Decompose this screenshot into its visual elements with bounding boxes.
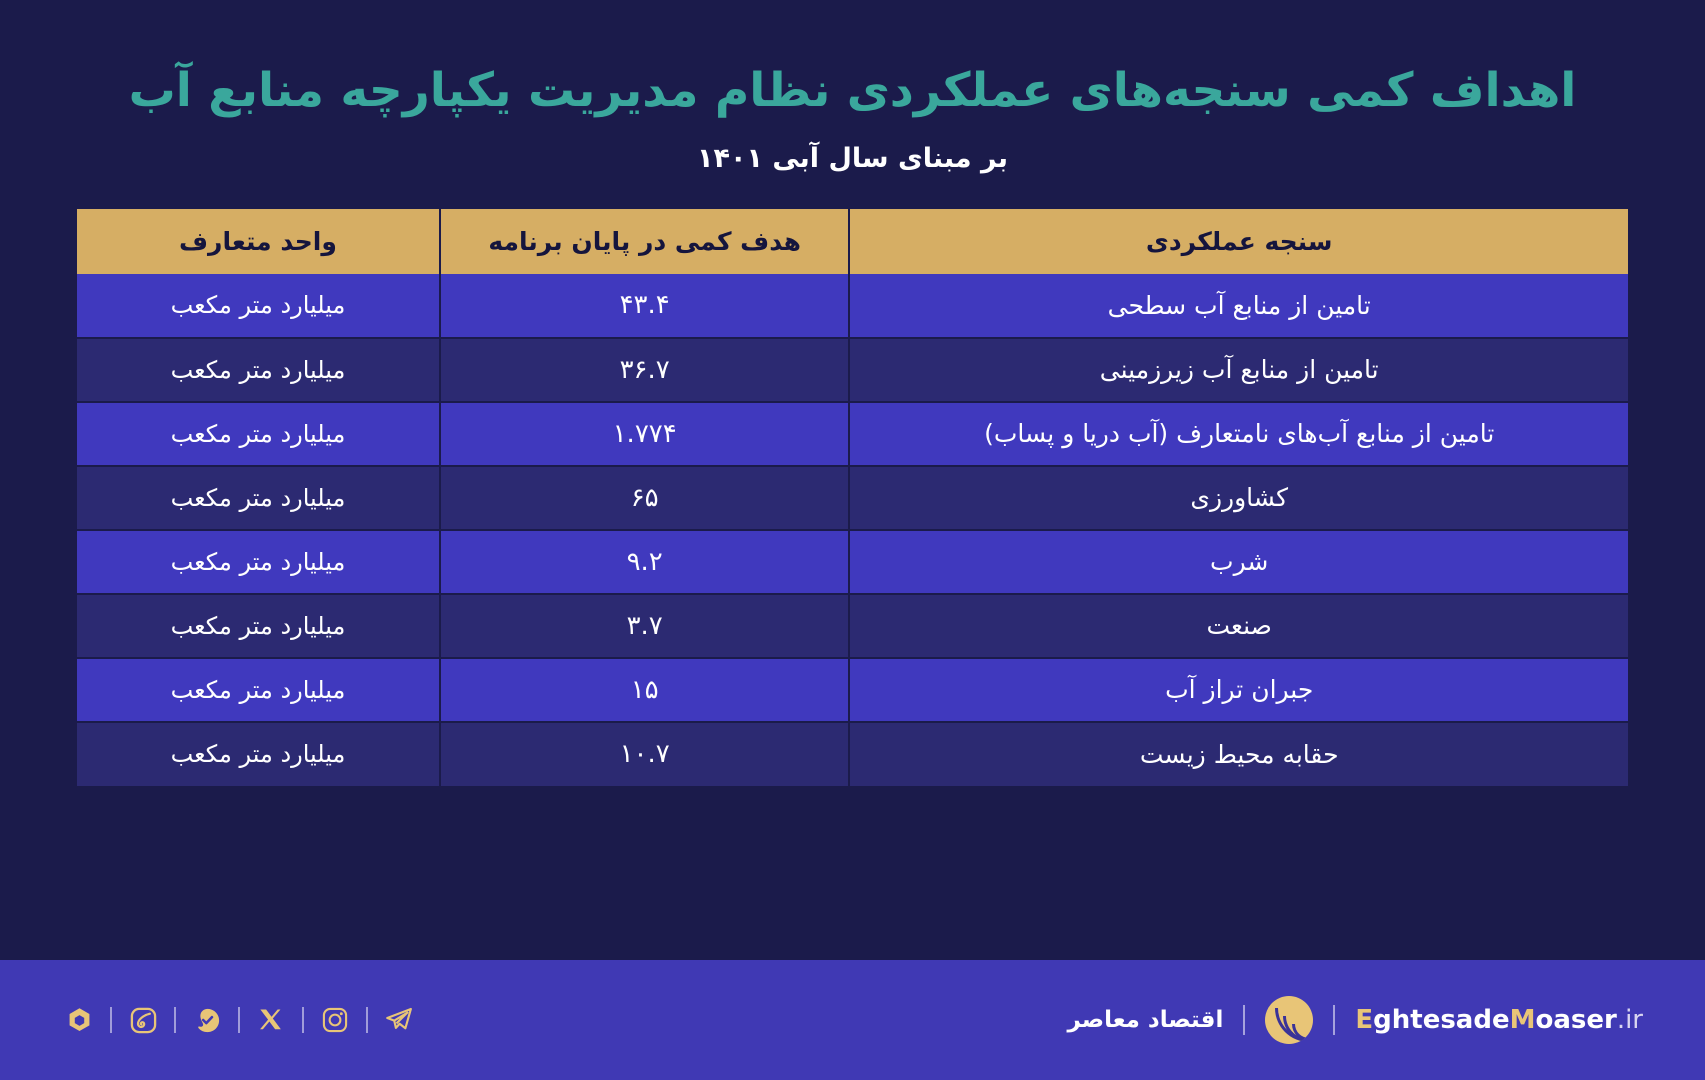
cell-target: ۳۶.۷: [440, 338, 849, 402]
logo-icon: [1265, 996, 1313, 1044]
cell-unit: میلیارد متر مکعب: [77, 530, 440, 594]
cell-unit: میلیارد متر مکعب: [77, 722, 440, 786]
brand-en-m: M: [1510, 1005, 1536, 1035]
cell-metric: تامین از منابع آب‌های نامتعارف (آب دریا …: [849, 402, 1628, 466]
table-row: تامین از منابع آب زیرزمینی ۳۶.۷ میلیارد …: [77, 338, 1628, 402]
targets-table: سنجه عملکردی هدف کمی در پایان برنامه واح…: [77, 209, 1628, 786]
social-divider: [238, 1007, 240, 1033]
social-divider: [110, 1007, 112, 1033]
cell-unit: میلیارد متر مکعب: [77, 594, 440, 658]
page-title: اهداف کمی سنجه‌های عملکردی نظام مدیریت ی…: [0, 62, 1705, 121]
brand-en-e: E: [1355, 1005, 1373, 1035]
cell-target: ۳.۷: [440, 594, 849, 658]
x-icon[interactable]: [254, 1003, 288, 1037]
table-body: تامین از منابع آب سطحی ۴۳.۴ میلیارد متر …: [77, 274, 1628, 786]
cell-target: ۴۳.۴: [440, 274, 849, 338]
page-subtitle: بر مبنای سال آبی ۱۴۰۱: [0, 141, 1705, 176]
brand-en-oaser: oaser: [1535, 1005, 1616, 1035]
column-header-unit: واحد متعارف: [77, 209, 440, 274]
brand-block[interactable]: اقتصاد معاصر EghtesadeMoaser.ir: [1068, 996, 1643, 1044]
cell-metric: تامین از منابع آب زیرزمینی: [849, 338, 1628, 402]
telegram-icon[interactable]: [382, 1003, 416, 1037]
social-divider: [366, 1007, 368, 1033]
rubika-icon[interactable]: [62, 1003, 96, 1037]
table-row: کشاورزی ۶۵ میلیارد متر مکعب: [77, 466, 1628, 530]
table-row: جبران تراز آب ۱۵ میلیارد متر مکعب: [77, 658, 1628, 722]
instagram-icon[interactable]: [318, 1003, 352, 1037]
cell-metric: شرب: [849, 530, 1628, 594]
column-header-target: هدف کمی در پایان برنامه: [440, 209, 849, 274]
cell-metric: صنعت: [849, 594, 1628, 658]
table-row: شرب ۹.۲ میلیارد متر مکعب: [77, 530, 1628, 594]
eitaa-icon[interactable]: [126, 1003, 160, 1037]
table-row: تامین از منابع آب سطحی ۴۳.۴ میلیارد متر …: [77, 274, 1628, 338]
cell-unit: میلیارد متر مکعب: [77, 658, 440, 722]
brand-name-fa: اقتصاد معاصر: [1068, 1007, 1224, 1033]
title-block: اهداف کمی سنجه‌های عملکردی نظام مدیریت ی…: [0, 0, 1705, 176]
cell-metric: حقابه محیط زیست: [849, 722, 1628, 786]
cell-unit: میلیارد متر مکعب: [77, 402, 440, 466]
table-row: حقابه محیط زیست ۱۰.۷ میلیارد متر مکعب: [77, 722, 1628, 786]
cell-unit: میلیارد متر مکعب: [77, 274, 440, 338]
social-divider: [302, 1007, 304, 1033]
cell-metric: جبران تراز آب: [849, 658, 1628, 722]
footer-bar: اقتصاد معاصر EghtesadeMoaser.ir: [0, 960, 1705, 1080]
column-header-metric: سنجه عملکردی: [849, 209, 1628, 274]
cell-target: ۱.۷۷۴: [440, 402, 849, 466]
social-links: [62, 1003, 416, 1037]
cell-target: ۹.۲: [440, 530, 849, 594]
brand-en-tld: .ir: [1617, 1005, 1643, 1035]
cell-metric: تامین از منابع آب سطحی: [849, 274, 1628, 338]
table-row: صنعت ۳.۷ میلیارد متر مکعب: [77, 594, 1628, 658]
table-row: تامین از منابع آب‌های نامتعارف (آب دریا …: [77, 402, 1628, 466]
brand-divider: [1333, 1005, 1335, 1035]
brand-en-ghtesade: ghtesade: [1373, 1005, 1509, 1035]
cell-target: ۶۵: [440, 466, 849, 530]
social-divider: [174, 1007, 176, 1033]
cell-unit: میلیارد متر مکعب: [77, 466, 440, 530]
table-header: سنجه عملکردی هدف کمی در پایان برنامه واح…: [77, 209, 1628, 274]
cell-target: ۱۵: [440, 658, 849, 722]
table-header-row: سنجه عملکردی هدف کمی در پایان برنامه واح…: [77, 209, 1628, 274]
table-container: سنجه عملکردی هدف کمی در پایان برنامه واح…: [77, 209, 1628, 786]
brand-divider: [1243, 1005, 1245, 1035]
bale-icon[interactable]: [190, 1003, 224, 1037]
cell-metric: کشاورزی: [849, 466, 1628, 530]
cell-unit: میلیارد متر مکعب: [77, 338, 440, 402]
cell-target: ۱۰.۷: [440, 722, 849, 786]
brand-name-en: EghtesadeMoaser.ir: [1355, 1005, 1643, 1035]
